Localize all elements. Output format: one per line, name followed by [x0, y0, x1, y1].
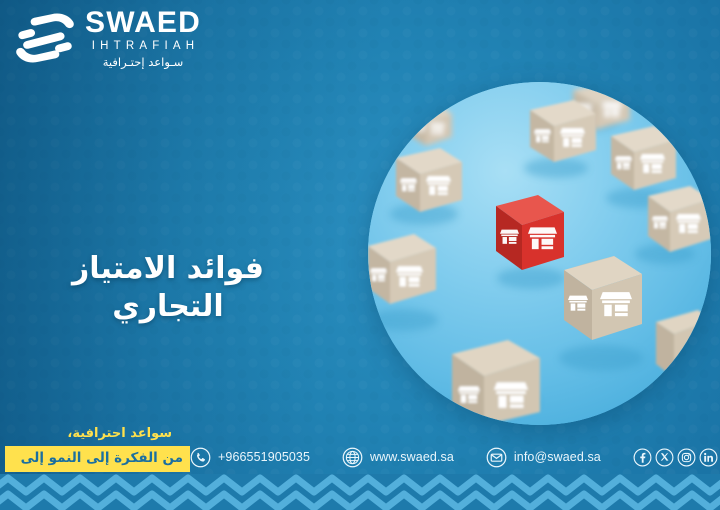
tagline-highlight-wrap: من الفكرة إلى النمو إلى	[0, 446, 190, 473]
chevron-zigzag-icon	[0, 474, 720, 510]
email-icon	[486, 447, 507, 468]
linkedin-icon[interactable]	[699, 448, 718, 467]
globe-icon	[342, 447, 363, 468]
facebook-icon[interactable]	[633, 448, 652, 467]
instagram-icon[interactable]	[677, 448, 696, 467]
brand-name-latin: SWAED	[85, 8, 201, 38]
poster-canvas: SWAED IHTRAFIAH سـواعد إحتـرافية	[0, 0, 720, 510]
contact-email[interactable]: info@swaed.sa	[486, 447, 601, 468]
page-title: فوائد الامتياز التجاري	[18, 250, 318, 325]
phone-icon	[190, 447, 211, 468]
brand-logo[interactable]: SWAED IHTRAFIAH سـواعد إحتـرافية	[14, 6, 201, 70]
x-twitter-icon[interactable]	[655, 448, 674, 467]
contact-website[interactable]: www.swaed.sa	[342, 447, 454, 468]
hero-image-circle	[368, 82, 711, 425]
contact-website-label: www.swaed.sa	[370, 450, 454, 464]
contact-email-label: info@swaed.sa	[514, 450, 601, 464]
footer-chevron-pattern	[0, 474, 720, 510]
social-icon-row	[633, 448, 718, 467]
brand-logo-text: SWAED IHTRAFIAH سـواعد إحتـرافية	[85, 6, 201, 70]
contact-bar: +966551905035 www.swaed.sa info@swaed.sa	[190, 442, 720, 472]
tagline-line-1: سواعد احترافية،	[0, 424, 172, 444]
tagline: سواعد احترافية، من الفكرة إلى النمو إلى	[0, 424, 190, 472]
contact-phone-label: +966551905035	[218, 450, 310, 464]
contact-phone[interactable]: +966551905035	[190, 447, 310, 468]
tagline-line-2: من الفكرة إلى النمو إلى	[5, 446, 190, 473]
wooden-cubes-illustration	[368, 82, 711, 425]
brand-subtitle-latin: IHTRAFIAH	[87, 38, 200, 55]
social-links: swae	[633, 448, 720, 467]
swaed-interlock-s-logo-icon	[14, 11, 76, 65]
brand-name-arabic: سـواعد إحتـرافية	[103, 55, 184, 70]
